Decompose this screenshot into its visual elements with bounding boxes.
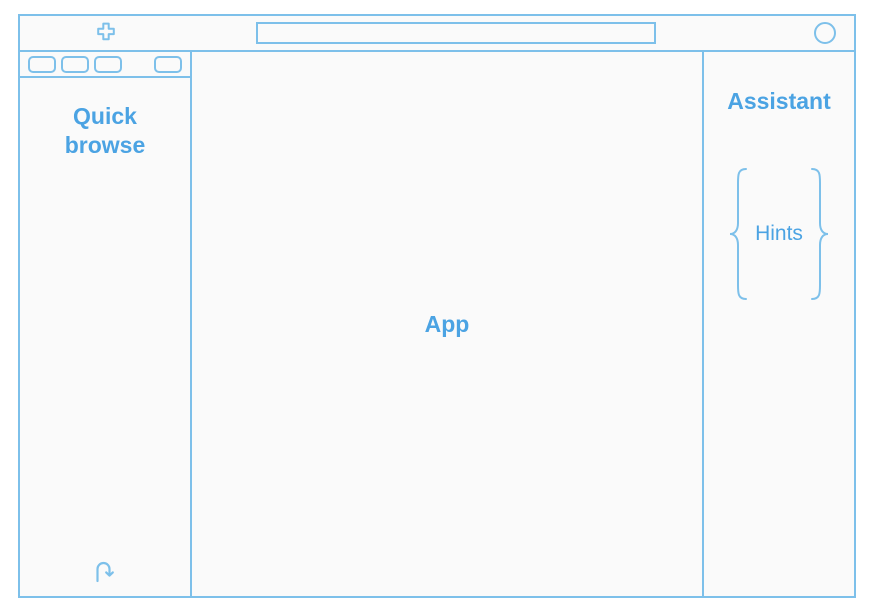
assistant-panel: Assistant Hints: [704, 52, 854, 596]
address-bar-input[interactable]: [256, 22, 656, 44]
header-bar: [20, 16, 854, 52]
circle-avatar-icon[interactable]: [814, 22, 836, 44]
assistant-title: Assistant: [727, 88, 831, 115]
sidebar-title: Quick browse: [45, 102, 165, 160]
toolbar-button-1[interactable]: [28, 56, 56, 73]
left-brace-icon: [727, 167, 749, 301]
header-right-region: [694, 16, 854, 50]
plus-icon[interactable]: [95, 22, 117, 44]
header-center-region: [192, 16, 694, 50]
header-left-region: [20, 16, 192, 50]
u-turn-arrow-icon[interactable]: [90, 556, 120, 586]
right-brace-icon: [809, 167, 831, 301]
sidebar-panel: Quick browse: [20, 52, 192, 596]
window-frame: Quick browse App Assistant: [18, 14, 856, 598]
body-row: Quick browse App Assistant: [20, 52, 854, 596]
sidebar-body: Quick browse: [20, 78, 190, 596]
app-title: App: [425, 311, 470, 338]
sidebar-toolbar: [20, 52, 190, 78]
app-content-area: App: [192, 52, 704, 596]
hints-label: Hints: [749, 222, 809, 246]
toolbar-button-3[interactable]: [94, 56, 122, 73]
toolbar-button-4[interactable]: [154, 56, 182, 73]
sidebar-footer: [20, 556, 190, 586]
toolbar-button-2[interactable]: [61, 56, 89, 73]
hints-block: Hints: [704, 167, 854, 301]
